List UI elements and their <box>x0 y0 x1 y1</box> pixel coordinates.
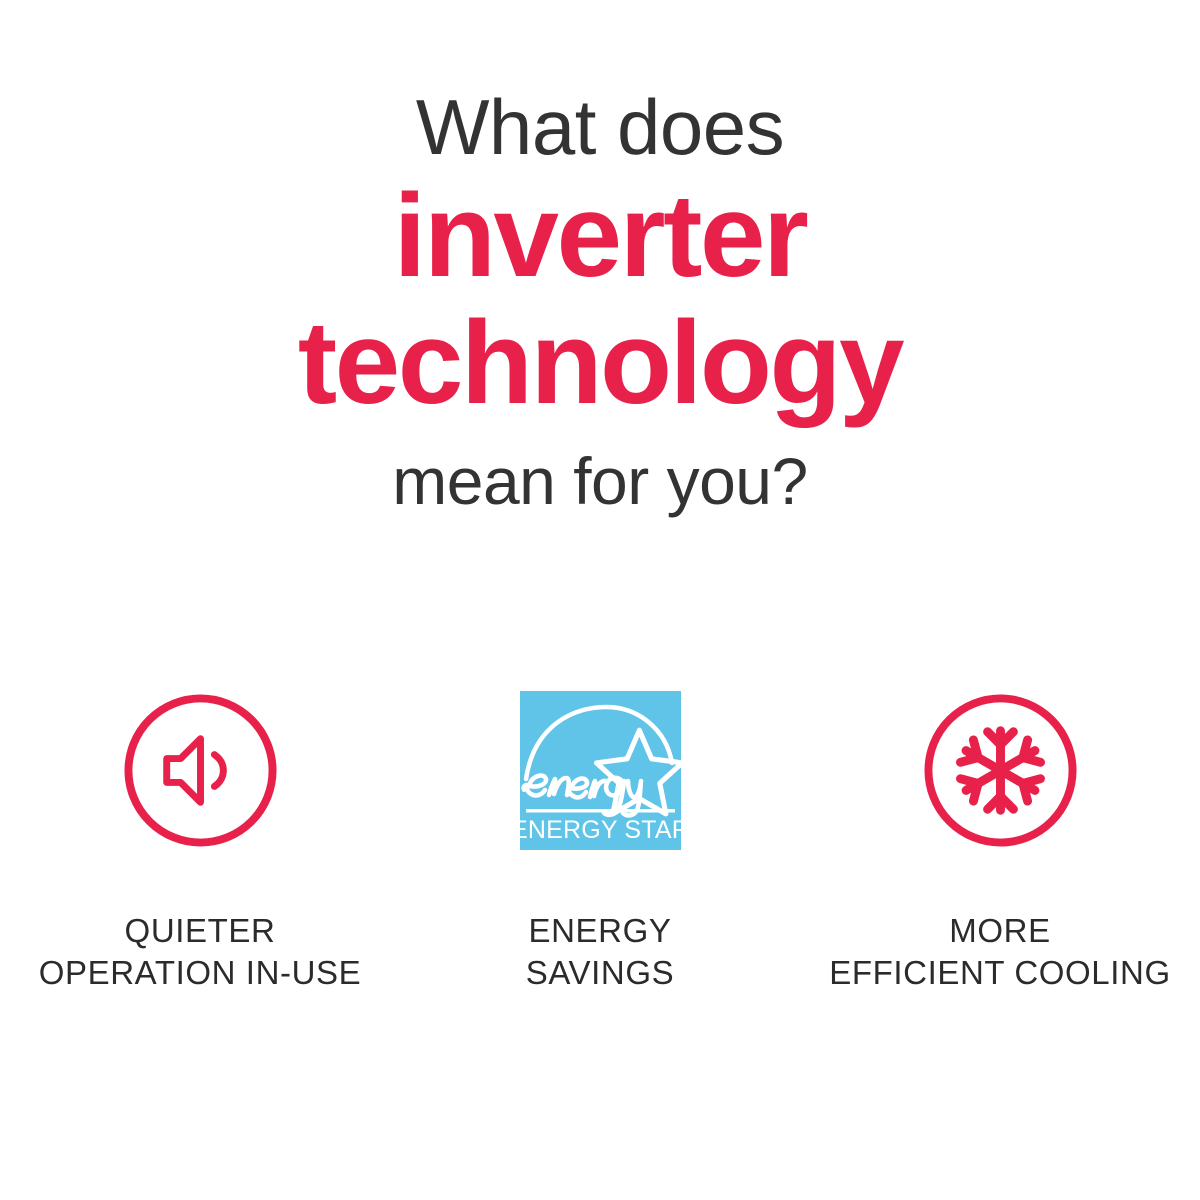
feature-caption-quieter: QUIETER OPERATION IN-USE <box>39 910 362 994</box>
energy-star-logo: ENERGY STAR <box>520 691 681 850</box>
feature-caption-efficient-cooling: MORE EFFICIENT COOLING <box>829 910 1170 994</box>
headline-line-3-accent: technology <box>0 301 1200 426</box>
speaker-volume-icon <box>121 691 280 850</box>
headline-block: What does inverter technology mean for y… <box>0 88 1200 514</box>
energy-star-wordmark: ENERGY STAR <box>520 816 681 844</box>
snowflake-icon <box>921 691 1080 850</box>
feature-icon-slot <box>921 690 1080 850</box>
feature-icon-slot <box>121 690 280 850</box>
feature-icon-slot: ENERGY STAR <box>520 690 681 850</box>
feature-energy-savings: ENERGY STAR ENERGY SAVINGS <box>400 690 800 994</box>
headline-line-4: mean for you? <box>0 448 1200 514</box>
feature-efficient-cooling: MORE EFFICIENT COOLING <box>800 690 1200 994</box>
feature-row: QUIETER OPERATION IN-USE <box>0 690 1200 994</box>
feature-caption-energy-savings: ENERGY SAVINGS <box>526 910 674 994</box>
headline-line-2-accent: inverter <box>0 174 1200 299</box>
infographic-poster: What does inverter technology mean for y… <box>0 0 1200 1200</box>
feature-quieter-operation: QUIETER OPERATION IN-USE <box>0 690 400 994</box>
headline-line-1: What does <box>0 88 1200 166</box>
